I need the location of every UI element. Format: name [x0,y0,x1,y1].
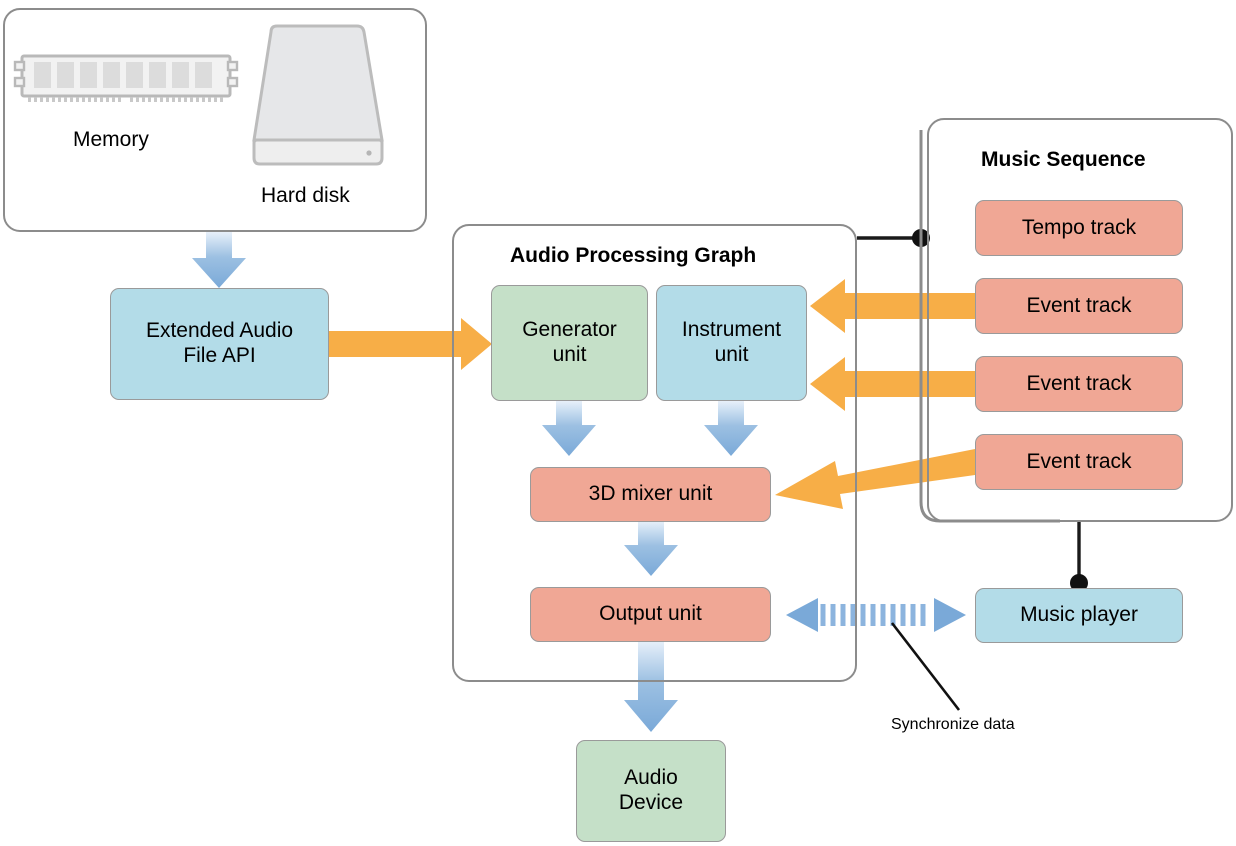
instrument-unit-node[interactable]: Instrument unit [656,285,807,401]
audio-processing-graph-title: Audio Processing Graph [510,244,756,268]
hard-disk-label: Hard disk [261,184,350,208]
event-track-node-2[interactable]: Event track [975,356,1183,412]
music-sequence-title: Music Sequence [981,148,1146,172]
diagram-canvas: Memory Hard disk Audio Processing Graph … [0,0,1236,846]
memory-label: Memory [73,128,149,152]
audio-device-node[interactable]: Audio Device [576,740,726,842]
connector-music-sequence-to-music-player [1070,521,1088,592]
arrow-storage-to-extended-audio-api [192,232,246,288]
synchronize-data-label: Synchronize data [891,716,1015,734]
leader-line-synchronize-data [892,623,959,710]
tempo-track-node[interactable]: Tempo track [975,200,1183,256]
event-track-node-3[interactable]: Event track [975,434,1183,490]
music-player-node[interactable]: Music player [975,588,1183,643]
connector-music-sequence-to-graph [857,229,930,247]
generator-unit-node[interactable]: Generator unit [491,285,648,401]
extended-audio-file-api-node[interactable]: Extended Audio File API [110,288,329,400]
output-unit-node[interactable]: Output unit [530,587,771,642]
storage-group [3,8,427,232]
mixer-unit-node[interactable]: 3D mixer unit [530,467,771,522]
event-track-node-1[interactable]: Event track [975,278,1183,334]
